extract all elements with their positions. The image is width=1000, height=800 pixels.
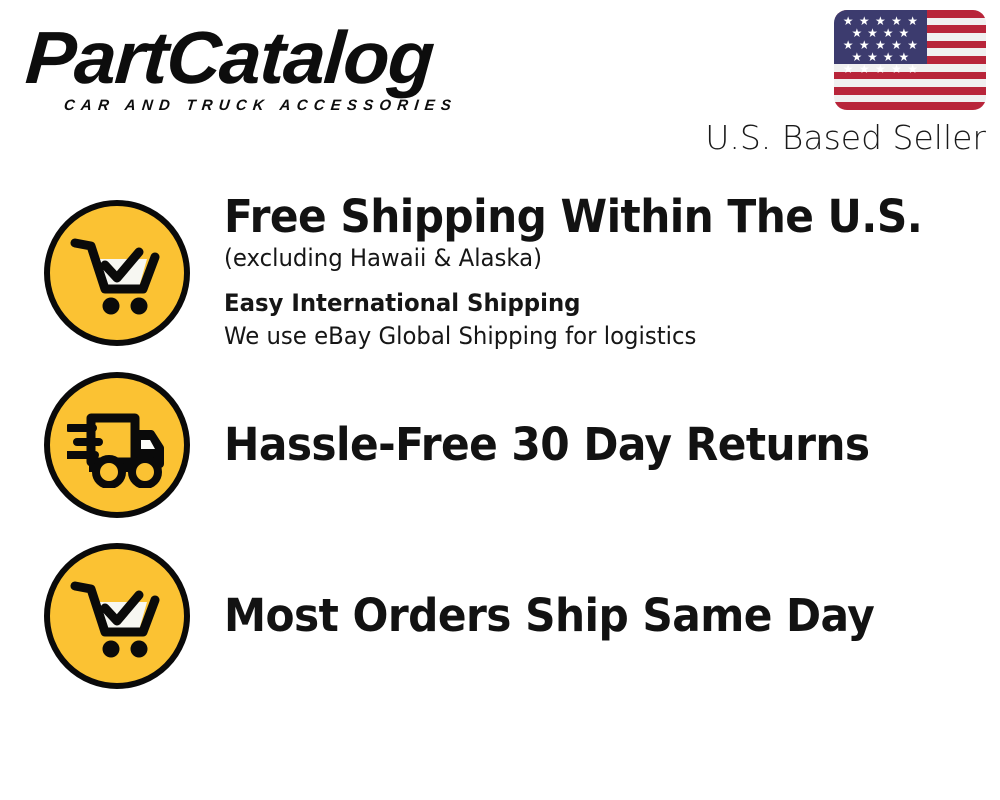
us-flag-icon: ★★★★★ ★★★★ ★★★★★ ★★★★ ★★★★★ [834, 10, 986, 110]
feature-text-block: Most Orders Ship Same Day [224, 592, 1000, 640]
feature-heading: Hassle-Free 30 Day Returns [224, 421, 935, 469]
seller-label: U.S. Based Seller [705, 121, 986, 154]
flag-stars: ★★★★★ ★★★★ ★★★★★ ★★★★ ★★★★★ [834, 10, 927, 64]
seller-badge: ★★★★★ ★★★★ ★★★★★ ★★★★ ★★★★★ U.S. Based S… [705, 10, 986, 154]
shopping-cart-check-icon [44, 200, 190, 346]
brand-tagline: CAR AND TRUCK ACCESSORIES [63, 97, 497, 114]
flag-canton: ★★★★★ ★★★★ ★★★★★ ★★★★ ★★★★★ [834, 10, 927, 64]
shopping-cart-check-icon [44, 543, 190, 689]
feature-heading: Free Shipping Within The U.S. [224, 193, 935, 241]
feature-secondary-heading: Easy International Shipping [224, 288, 942, 319]
banner-header: PartCatalog CAR AND TRUCK ACCESSORIES [0, 0, 1000, 170]
feature-subtitle: (excluding Hawaii & Alaska) [224, 243, 942, 274]
feature-row: Hassle-Free 30 Day Returns [0, 360, 1000, 530]
seller-info-banner: PartCatalog CAR AND TRUCK ACCESSORIES [0, 0, 1000, 800]
feature-list: Free Shipping Within The U.S. (excluding… [0, 186, 1000, 702]
feature-text-block: Free Shipping Within The U.S. (excluding… [224, 193, 1000, 352]
brand-wordmark: PartCatalog [23, 22, 508, 95]
feature-secondary-subtitle: We use eBay Global Shipping for logistic… [224, 321, 942, 352]
feature-row: Most Orders Ship Same Day [0, 530, 1000, 702]
feature-heading: Most Orders Ship Same Day [224, 592, 935, 640]
delivery-truck-icon [44, 372, 190, 518]
feature-text-block: Hassle-Free 30 Day Returns [224, 421, 1000, 469]
feature-row: Free Shipping Within The U.S. (excluding… [0, 186, 1000, 360]
brand-logo: PartCatalog CAR AND TRUCK ACCESSORIES [26, 22, 496, 114]
